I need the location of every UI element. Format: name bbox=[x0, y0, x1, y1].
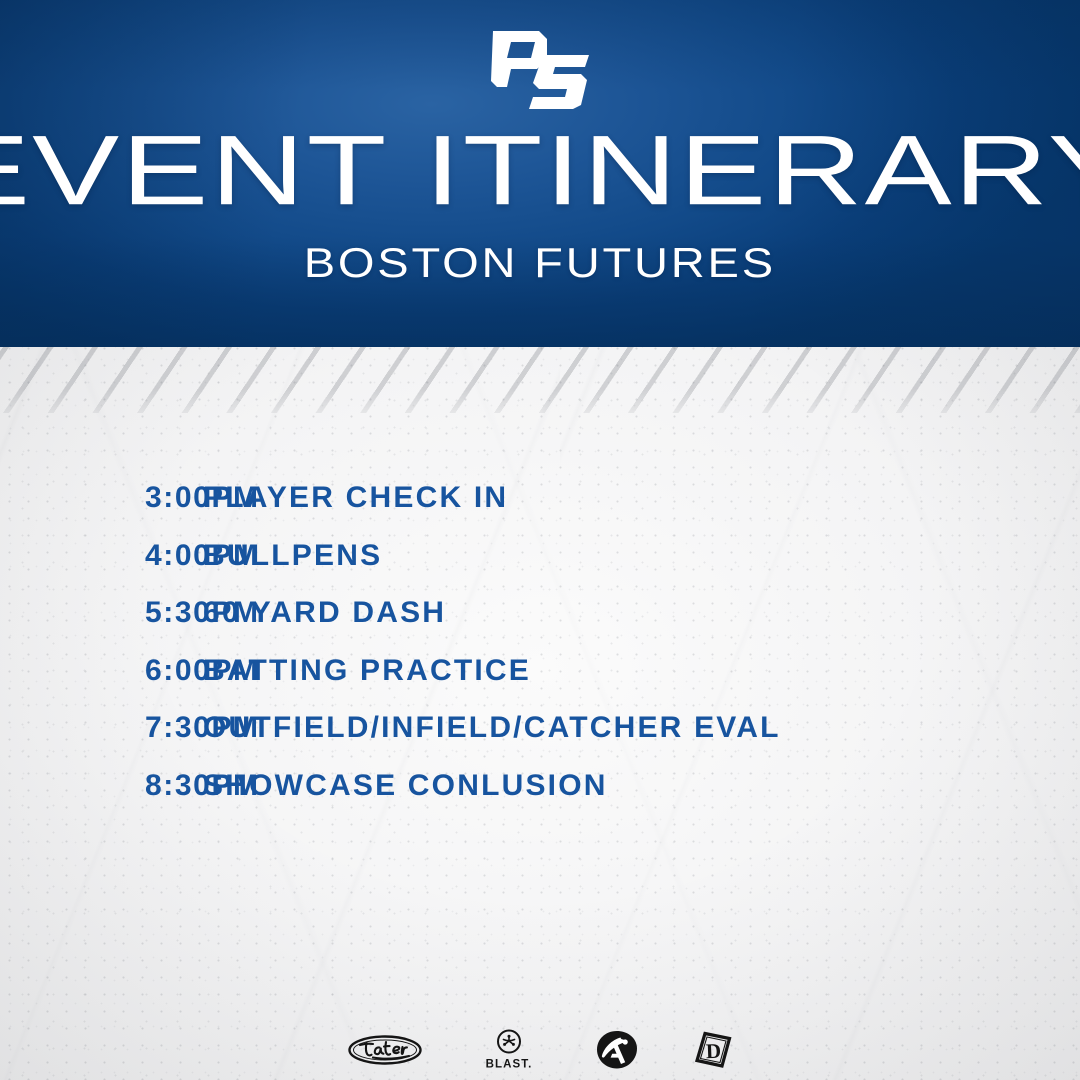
sponsor-blast: BLAST. bbox=[477, 1028, 541, 1072]
sponsor-axe-bat bbox=[595, 1030, 639, 1070]
itinerary-activity: BULLPENS bbox=[203, 539, 382, 573]
svg-text:BLAST.: BLAST. bbox=[486, 1059, 533, 1071]
header-banner: EVENT ITINERARY BOSTON FUTURES bbox=[0, 0, 1080, 347]
itinerary-activity: BATTING PRACTICE bbox=[203, 654, 531, 688]
itinerary-time: 8:30PM bbox=[0, 769, 203, 803]
itinerary-row: 4:00PMBULLPENS bbox=[0, 539, 1080, 597]
svg-text:D: D bbox=[705, 1039, 721, 1064]
itinerary-time: 3:00PM bbox=[0, 481, 203, 515]
itinerary-row: 8:30PMSHOWCASE CONLUSION bbox=[0, 769, 1080, 827]
sponsor-diamond-d: D bbox=[693, 1030, 733, 1070]
sponsor-tater bbox=[347, 1033, 423, 1067]
diamond-d-logo-icon: D bbox=[693, 1030, 733, 1070]
itinerary-row: 7:30PMOUTFIELD/INFIELD/CATCHER EVAL bbox=[0, 711, 1080, 769]
ps-logo-icon bbox=[481, 29, 599, 111]
sponsor-logo-row: BLAST. D bbox=[0, 1025, 1080, 1075]
itinerary-activity: PLAYER CHECK IN bbox=[203, 481, 508, 515]
itinerary-activity: OUTFIELD/INFIELD/CATCHER EVAL bbox=[203, 711, 781, 745]
itinerary-time: 6:00PM bbox=[0, 654, 203, 688]
itinerary-time: 5:30PM bbox=[0, 596, 203, 630]
page-title: EVENT ITINERARY bbox=[0, 129, 1080, 214]
tater-logo-icon bbox=[347, 1033, 423, 1067]
page-subtitle: BOSTON FUTURES bbox=[304, 242, 776, 284]
itinerary-row: 6:00PMBATTING PRACTICE bbox=[0, 654, 1080, 712]
event-itinerary-poster: EVENT ITINERARY BOSTON FUTURES 3:00PMPLA… bbox=[0, 0, 1080, 1080]
itinerary-activity: SHOWCASE CONLUSION bbox=[203, 769, 608, 803]
axe-bat-logo-icon bbox=[595, 1030, 639, 1070]
itinerary-time: 7:30PM bbox=[0, 711, 203, 745]
blast-logo-icon: BLAST. bbox=[477, 1028, 541, 1072]
itinerary-activity: 60 YARD DASH bbox=[203, 596, 446, 630]
itinerary-row: 3:00PMPLAYER CHECK IN bbox=[0, 481, 1080, 539]
itinerary-time: 4:00PM bbox=[0, 539, 203, 573]
itinerary-schedule: 3:00PMPLAYER CHECK IN4:00PMBULLPENS5:30P… bbox=[0, 481, 1080, 826]
itinerary-row: 5:30PM60 YARD DASH bbox=[0, 596, 1080, 654]
